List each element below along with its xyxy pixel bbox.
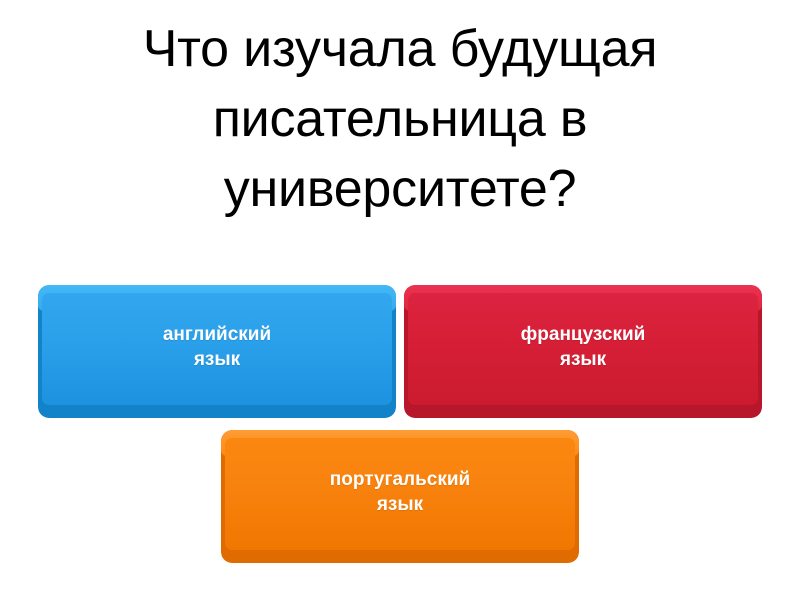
question-area: Что изучала будущая писательница в униве… <box>0 0 800 268</box>
answer-row-top: английский язык французский язык <box>0 285 800 418</box>
answer-option-face <box>225 438 575 550</box>
question-text: Что изучала будущая писательница в униве… <box>20 0 780 224</box>
answer-option-english[interactable]: английский язык <box>38 285 396 418</box>
answer-option-portuguese[interactable]: португальский язык <box>221 430 579 563</box>
answer-option-face <box>42 293 392 405</box>
answer-option-french[interactable]: французский язык <box>404 285 762 418</box>
answer-option-face <box>408 293 758 405</box>
answer-options-area: английский язык французский язык португа… <box>0 278 800 600</box>
answer-row-bottom: португальский язык <box>0 430 800 563</box>
quiz-stage: Что изучала будущая писательница в униве… <box>0 0 800 600</box>
